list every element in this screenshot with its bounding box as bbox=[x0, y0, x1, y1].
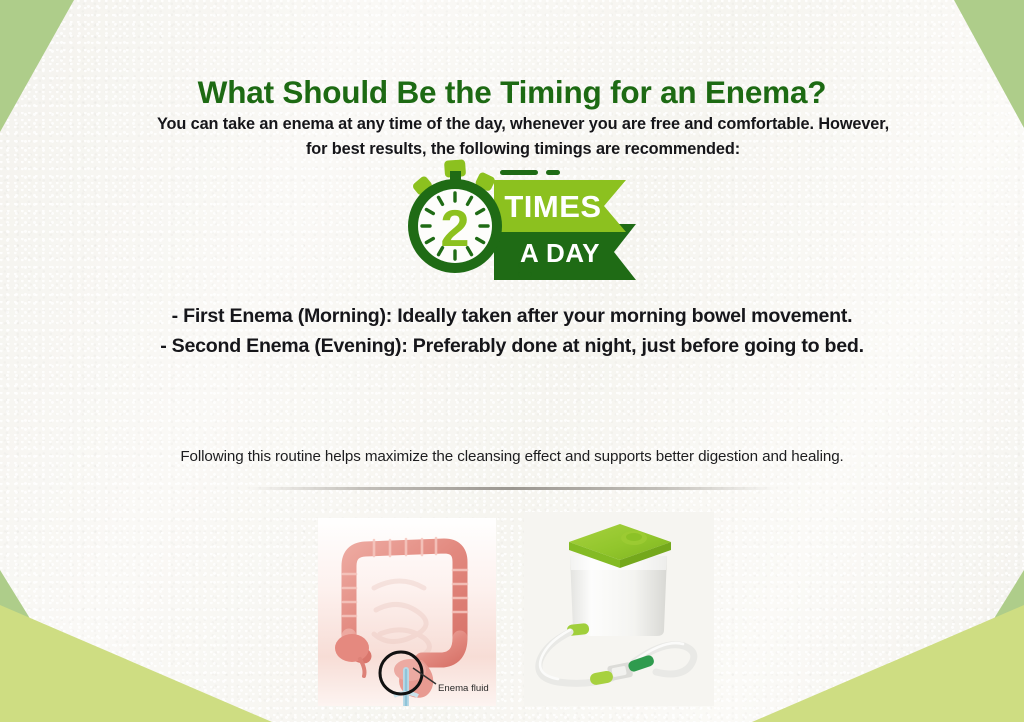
bullet-second-enema: - Second Enema (Evening): Preferably don… bbox=[142, 332, 882, 362]
poster-content: What Should Be the Timing for an Enema? … bbox=[0, 0, 1024, 722]
stopwatch-icon: 2 bbox=[408, 179, 502, 273]
intro-paragraph: You can take an enema at any time of the… bbox=[152, 112, 894, 162]
closing-paragraph: Following this routine helps maximize th… bbox=[104, 445, 920, 468]
two-times-a-day-badge: 2 TIMES A DAY bbox=[398, 158, 650, 280]
ribbon-accent-dash-3 bbox=[518, 272, 532, 277]
timing-bullet-list: - First Enema (Morning): Ideally taken a… bbox=[142, 302, 882, 361]
ribbon-accent-dash-2 bbox=[546, 170, 560, 175]
colon-anatomy-figure: Enema fluid bbox=[318, 518, 496, 706]
enema-fluid-caption: Enema fluid bbox=[438, 683, 489, 694]
lid-cap-inner bbox=[626, 533, 642, 541]
poster-canvas: What Should Be the Timing for an Enema? … bbox=[0, 0, 1024, 722]
section-divider bbox=[248, 487, 776, 490]
ribbon-bottom-label: A DAY bbox=[520, 238, 600, 268]
ribbon-accent-dash-1 bbox=[500, 170, 538, 175]
enema-kit-figure bbox=[524, 512, 714, 706]
bullet-first-enema: - First Enema (Morning): Ideally taken a… bbox=[142, 302, 882, 332]
badge-number: 2 bbox=[441, 200, 470, 258]
ribbon-top-label: TIMES bbox=[504, 189, 601, 224]
page-title: What Should Be the Timing for an Enema? bbox=[0, 74, 1024, 111]
